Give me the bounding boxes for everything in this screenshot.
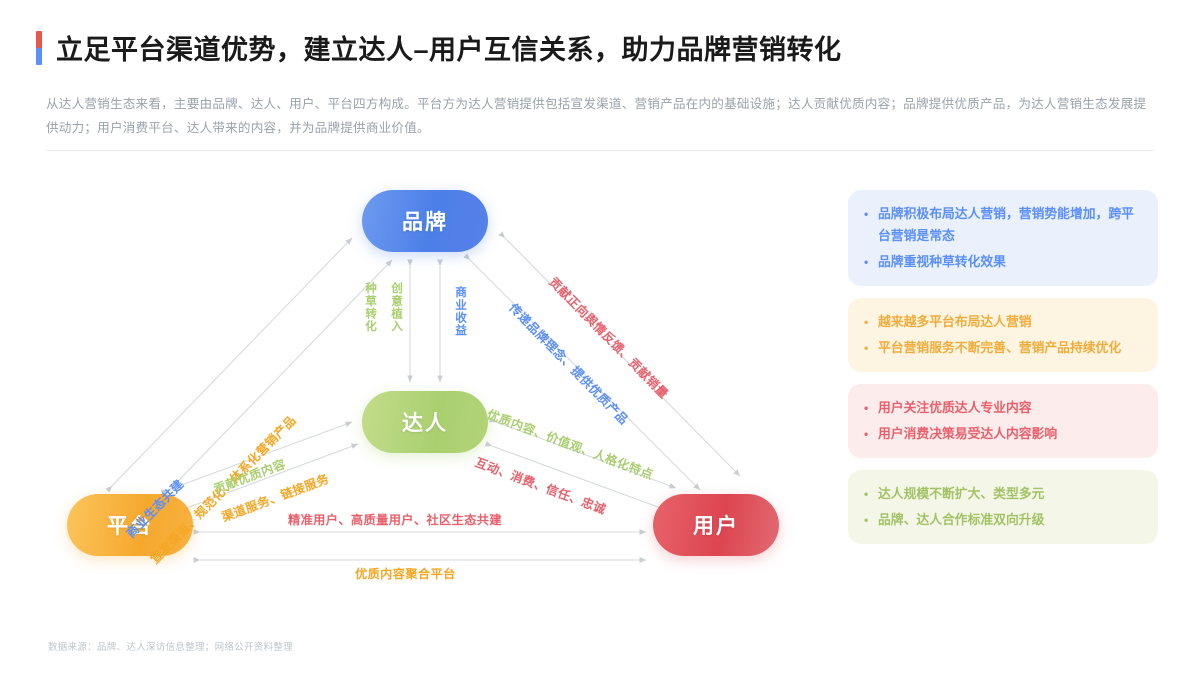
node-user[interactable]: 用户	[653, 494, 779, 556]
node-talent-label: 达人	[402, 407, 448, 437]
edge-label-brand-talent-b: 创意植入	[388, 282, 404, 332]
edge-label-platform-user-out: 精准用户、高质量用户、社区生态共建	[288, 510, 502, 528]
insight-card-talent[interactable]: 达人规模不断扩大、类型多元 品牌、达人合作标准双向升级	[848, 470, 1158, 544]
ecosystem-diagram: 品牌 达人 平台 用户 商业生态共建 宣发渠道、规范化、体系化营销产品 种草转化…	[0, 160, 830, 600]
insight-card-user[interactable]: 用户关注优质达人专业内容 用户消费决策易受达人内容影响	[848, 384, 1158, 458]
edge-label-brand-talent-right: 商业收益	[452, 286, 468, 336]
list-item: 品牌重视种草转化效果	[862, 251, 1142, 273]
list-item: 平台营销服务不断完善、营销产品持续优化	[862, 337, 1142, 359]
insight-cards: 品牌积极布局达人营销，营销势能增加，跨平台营销是常态 品牌重视种草转化效果 越来…	[848, 190, 1158, 556]
source-note: 数据来源：品牌、达人深访信息整理；网络公开资料整理	[48, 639, 293, 653]
edge-label-platform-user-in: 优质内容聚合平台	[355, 564, 456, 582]
slide-canvas: 立足平台渠道优势，建立达人–用户互信关系，助力品牌营销转化 从达人营销生态来看，…	[0, 0, 1200, 675]
node-brand-label: 品牌	[402, 206, 448, 236]
node-user-label: 用户	[693, 510, 739, 540]
list-item: 用户消费决策易受达人内容影响	[862, 423, 1142, 445]
node-brand[interactable]: 品牌	[362, 190, 488, 252]
node-talent[interactable]: 达人	[362, 391, 488, 453]
list-item: 用户关注优质达人专业内容	[862, 397, 1142, 419]
insight-card-brand[interactable]: 品牌积极布局达人营销，营销势能增加，跨平台营销是常态 品牌重视种草转化效果	[848, 190, 1158, 286]
list-item: 越来越多平台布局达人营销	[862, 311, 1142, 333]
insight-card-user-list: 用户关注优质达人专业内容 用户消费决策易受达人内容影响	[862, 397, 1142, 445]
title-accent-bar	[36, 31, 42, 65]
insight-card-platform[interactable]: 越来越多平台布局达人营销 平台营销服务不断完善、营销产品持续优化	[848, 298, 1158, 372]
list-item: 品牌、达人合作标准双向升级	[862, 509, 1142, 531]
list-item: 达人规模不断扩大、类型多元	[862, 483, 1142, 505]
edge-label-brand-talent-a: 种草转化	[362, 282, 378, 332]
title-text: 立足平台渠道优势，建立达人–用户互信关系，助力品牌营销转化	[56, 28, 842, 67]
list-item: 品牌积极布局达人营销，营销势能增加，跨平台营销是常态	[862, 203, 1142, 247]
header-divider	[46, 150, 1154, 151]
insight-card-brand-list: 品牌积极布局达人营销，营销势能增加，跨平台营销是常态 品牌重视种草转化效果	[862, 203, 1142, 273]
page-subtitle: 从达人营销生态来看，主要由品牌、达人、用户、平台四方构成。平台方为达人营销提供包…	[46, 92, 1156, 140]
insight-card-talent-list: 达人规模不断扩大、类型多元 品牌、达人合作标准双向升级	[862, 483, 1142, 531]
page-title: 立足平台渠道优势，建立达人–用户互信关系，助力品牌营销转化	[36, 28, 842, 67]
insight-card-platform-list: 越来越多平台布局达人营销 平台营销服务不断完善、营销产品持续优化	[862, 311, 1142, 359]
